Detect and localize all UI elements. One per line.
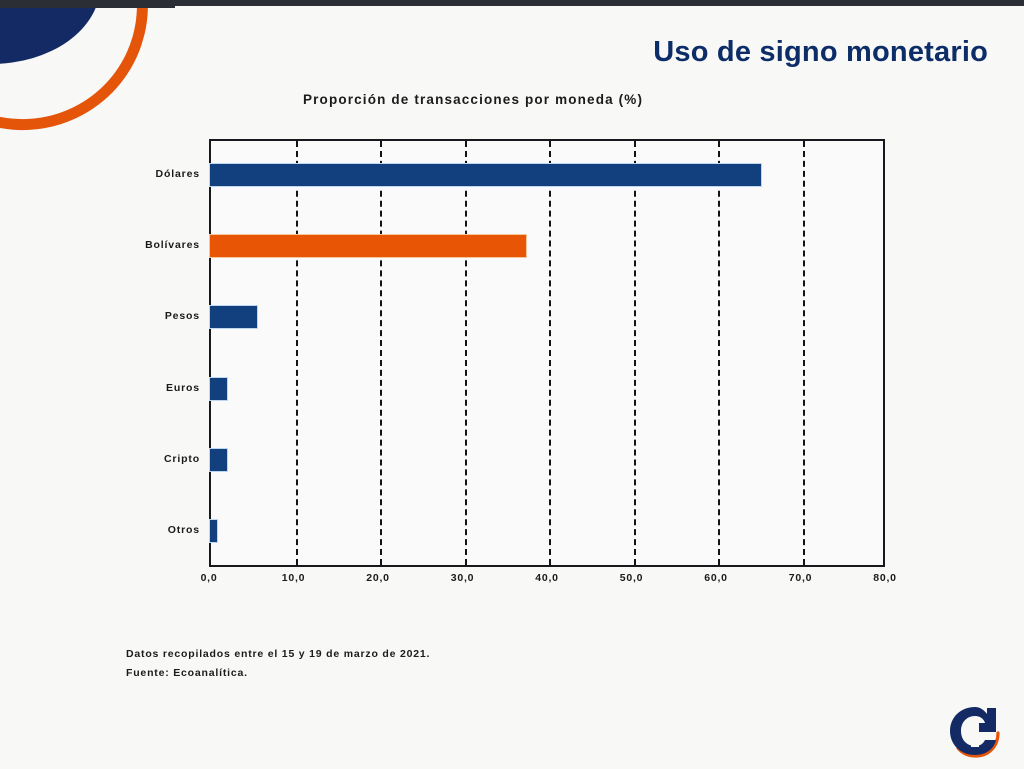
gridline	[549, 141, 551, 565]
x-tick-label: 50,0	[602, 572, 662, 584]
category-label-dólares: Dólares	[10, 168, 200, 180]
gridline	[634, 141, 636, 565]
slide-canvas: Uso de signo monetario Proporción de tra…	[0, 0, 1024, 769]
category-label-euros: Euros	[10, 382, 200, 394]
bar-cripto	[209, 448, 228, 472]
x-tick-label: 60,0	[686, 572, 746, 584]
x-tick-label: 70,0	[771, 572, 831, 584]
x-tick-label: 10,0	[264, 572, 324, 584]
bar-bolívares	[209, 234, 527, 258]
category-label-otros: Otros	[10, 524, 200, 536]
footnote-data: Datos recopilados entre el 15 y 19 de ma…	[126, 645, 430, 664]
gridline	[380, 141, 382, 565]
gridline	[296, 141, 298, 565]
category-label-bolívares: Bolívares	[10, 239, 200, 251]
bar-euros	[209, 377, 228, 401]
category-label-cripto: Cripto	[10, 453, 200, 465]
bar-pesos	[209, 305, 258, 329]
x-tick-label: 40,0	[517, 572, 577, 584]
gridline	[803, 141, 805, 565]
category-label-pesos: Pesos	[10, 310, 200, 322]
x-tick-label: 30,0	[433, 572, 493, 584]
gridline	[465, 141, 467, 565]
x-tick-label: 0,0	[179, 572, 239, 584]
bar-dólares	[209, 163, 762, 187]
footnote-source: Fuente: Ecoanalítica.	[126, 664, 430, 683]
gridline	[718, 141, 720, 565]
bar-otros	[209, 519, 218, 543]
plot-area	[209, 139, 885, 567]
footnotes: Datos recopilados entre el 15 y 19 de ma…	[126, 645, 430, 683]
x-tick-label: 20,0	[348, 572, 408, 584]
ecoanalitica-logo	[944, 703, 1006, 761]
x-tick-label: 80,0	[855, 572, 915, 584]
